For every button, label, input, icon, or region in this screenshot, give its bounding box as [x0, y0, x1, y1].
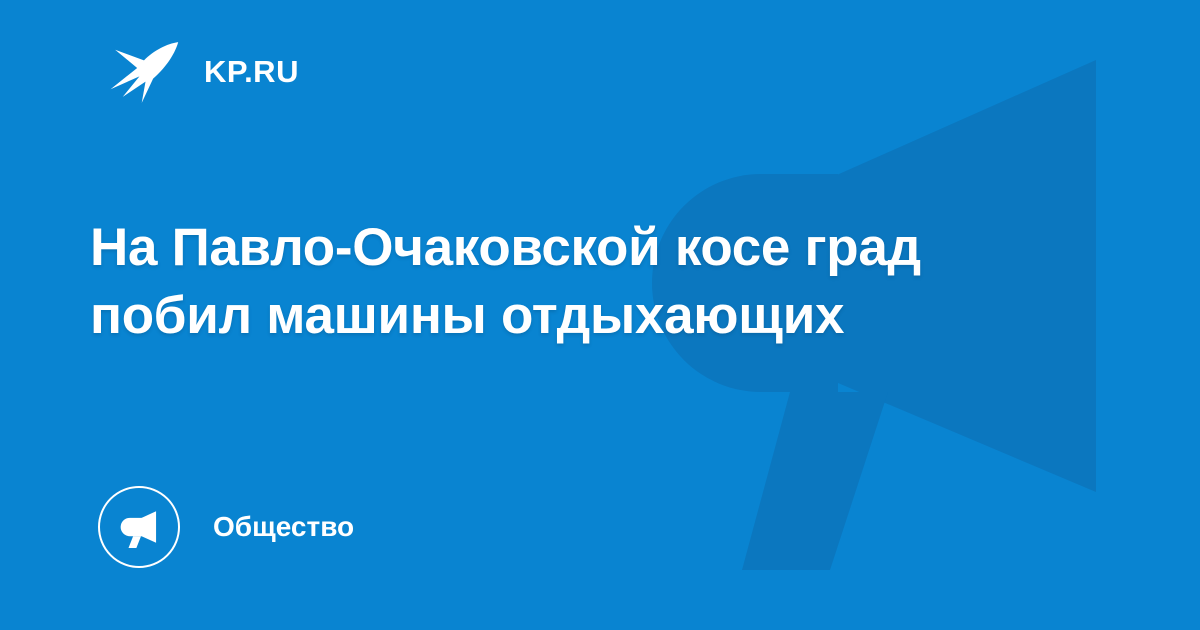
brand-name: KP.RU	[204, 56, 299, 87]
swallow-bird-icon	[106, 33, 182, 109]
category-label: Общество	[213, 513, 354, 541]
brand-logo[interactable]: KP.RU	[106, 34, 299, 108]
headline-line-2: побил машины отдыхающих	[90, 282, 1080, 350]
headline-line-1: На Павло-Очаковской косе град	[90, 214, 1080, 282]
page-title: На Павло-Очаковской косе град побил маши…	[90, 214, 1080, 350]
megaphone-icon	[98, 486, 180, 568]
category-badge[interactable]: Общество	[98, 484, 354, 570]
share-card: KP.RU На Павло-Очаковской косе град поби…	[0, 0, 1200, 630]
